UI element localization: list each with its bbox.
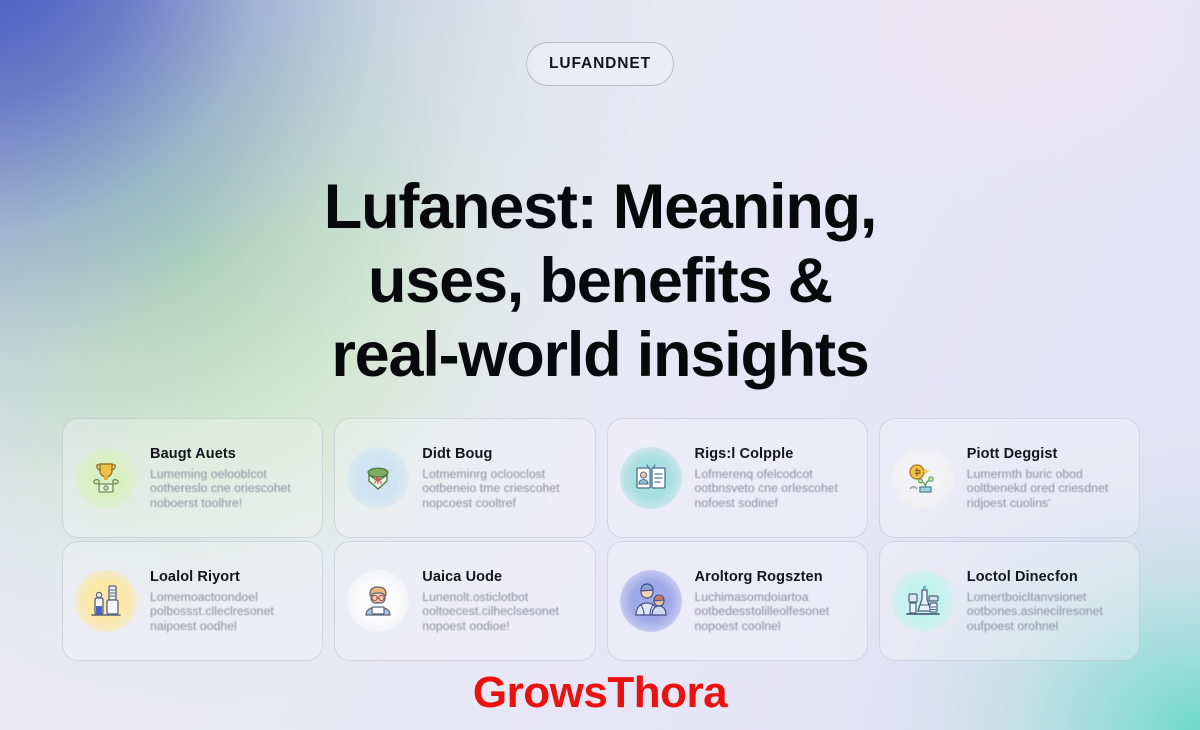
person-glasses-icon — [355, 578, 401, 624]
coin-growth-icon — [900, 455, 946, 501]
icon-circle — [75, 570, 137, 632]
brand-badge[interactable]: LUFANDNET — [526, 42, 674, 86]
card-title: Rigs:l Colpple — [695, 446, 853, 463]
card-title: Loctol Dinecfon — [967, 569, 1125, 586]
badge-row: LUFANDNET — [0, 42, 1200, 86]
card-desc-line: Lumermth buric obod — [967, 467, 1125, 482]
card-desc-line: ooltoecest.cilheclsesonet — [422, 604, 580, 619]
card-desc-line: nopcoest cooltref — [422, 496, 580, 511]
medical-shield-icon — [355, 455, 401, 501]
watermark-text: GrowsThora — [0, 668, 1200, 718]
card-title: Uaica Uode — [422, 569, 580, 586]
feature-card[interactable]: Piott Deggist Lumermth buric obod ooltbe… — [879, 418, 1140, 538]
card-desc-line: Lomertboicltanvsionet — [967, 590, 1125, 605]
feature-card[interactable]: Rigs:l Colpple Lofmerenq ofelcodcot ootb… — [607, 418, 868, 538]
card-desc-line: Lunenolt.osticlotbot — [422, 590, 580, 605]
card-desc-line: nofoest sodinef — [695, 496, 853, 511]
card-desc-line: ootbones.asinecilresonet — [967, 604, 1125, 619]
card-desc-line: nopoest coolnel — [695, 619, 853, 634]
headline-line-2: uses, benefits & — [200, 244, 1000, 318]
card-desc-line: nopoest oodioe! — [422, 619, 580, 634]
family-care-icon — [628, 578, 674, 624]
headline-line-3: real-world insights — [200, 318, 1000, 392]
card-description: Lotmeminrg oclooclost ootbeneio tme crie… — [422, 467, 580, 511]
card-desc-line: noboerst toolhre! — [150, 496, 308, 511]
card-title: Didt Boug — [422, 446, 580, 463]
card-title: Loalol Riyort — [150, 569, 308, 586]
icon-circle — [620, 570, 682, 632]
trophy-money-icon — [83, 455, 129, 501]
card-desc-line: ootbnsveto cne orlescohet — [695, 481, 853, 496]
icon-circle — [347, 447, 409, 509]
card-desc-line: ridjoest cuolins' — [967, 496, 1125, 511]
card-title: Aroltorg Rogszten — [695, 569, 853, 586]
card-desc-line: oufpoest orohnel — [967, 619, 1125, 634]
icon-circle — [892, 570, 954, 632]
card-desc-line: Lumeming oelooblcot — [150, 467, 308, 482]
icon-circle — [892, 447, 954, 509]
card-description: Lomemoactoondoel polbossst.clleclresonet… — [150, 590, 308, 634]
card-description: Luchimasomdoiartoa ootbedesstolilleolfes… — [695, 590, 853, 634]
headline-line-1: Lufanest: Meaning, — [200, 170, 1000, 244]
card-desc-line: oothereslo cne oriescohet — [150, 481, 308, 496]
feature-card[interactable]: Loctol Dinecfon Lomertboicltanvsionet oo… — [879, 541, 1140, 661]
card-body: Uaica Uode Lunenolt.osticlotbot ooltoece… — [422, 569, 580, 634]
feature-card-grid: Baugt Auets Lumeming oelooblcot ootheres… — [62, 418, 1140, 661]
page-root: LUFANDNET Lufanest: Meaning, uses, benef… — [0, 0, 1200, 730]
card-desc-line: polbossst.clleclresonet — [150, 604, 308, 619]
card-desc-line: naipoest oodhel — [150, 619, 308, 634]
card-body: Aroltorg Rogszten Luchimasomdoiartoa oot… — [695, 569, 853, 634]
feature-card[interactable]: Loalol Riyort Lomemoactoondoel polbossst… — [62, 541, 323, 661]
card-desc-line: Lofmerenq ofelcodcot — [695, 467, 853, 482]
card-description: Lofmerenq ofelcodcot ootbnsveto cne orle… — [695, 467, 853, 511]
card-body: Baugt Auets Lumeming oelooblcot ootheres… — [150, 446, 308, 511]
card-body: Rigs:l Colpple Lofmerenq ofelcodcot ootb… — [695, 446, 853, 511]
card-body: Piott Deggist Lumermth buric obod ooltbe… — [967, 446, 1125, 511]
card-body: Didt Boug Lotmeminrg oclooclost ootbenei… — [422, 446, 580, 511]
card-title: Baugt Auets — [150, 446, 308, 463]
card-desc-line: ooltbenekd ored criesdnet — [967, 481, 1125, 496]
card-desc-line: Luchimasomdoiartoa — [695, 590, 853, 605]
feature-card[interactable]: Didt Boug Lotmeminrg oclooclost ootbenei… — [334, 418, 595, 538]
card-description: Lomertboicltanvsionet ootbones.asinecilr… — [967, 590, 1125, 634]
card-description: Lumermth buric obod ooltbenekd ored crie… — [967, 467, 1125, 511]
card-desc-line: ootbeneio tme criescohet — [422, 481, 580, 496]
icon-circle — [75, 447, 137, 509]
lab-workbench-icon — [900, 578, 946, 624]
feature-card[interactable]: Baugt Auets Lumeming oelooblcot ootheres… — [62, 418, 323, 538]
card-desc-line: Lotmeminrg oclooclost — [422, 467, 580, 482]
lab-bottles-icon — [83, 578, 129, 624]
couple-documents-icon — [628, 455, 674, 501]
card-description: Lunenolt.osticlotbot ooltoecest.cilhecls… — [422, 590, 580, 634]
card-body: Loalol Riyort Lomemoactoondoel polbossst… — [150, 569, 308, 634]
card-body: Loctol Dinecfon Lomertboicltanvsionet oo… — [967, 569, 1125, 634]
icon-circle — [347, 570, 409, 632]
card-title: Piott Deggist — [967, 446, 1125, 463]
page-title: Lufanest: Meaning, uses, benefits & real… — [0, 170, 1200, 392]
card-description: Lumeming oelooblcot oothereslo cne ories… — [150, 467, 308, 511]
feature-card[interactable]: Uaica Uode Lunenolt.osticlotbot ooltoece… — [334, 541, 595, 661]
card-desc-line: Lomemoactoondoel — [150, 590, 308, 605]
feature-card[interactable]: Aroltorg Rogszten Luchimasomdoiartoa oot… — [607, 541, 868, 661]
card-desc-line: ootbedesstolilleolfesonet — [695, 604, 853, 619]
icon-circle — [620, 447, 682, 509]
